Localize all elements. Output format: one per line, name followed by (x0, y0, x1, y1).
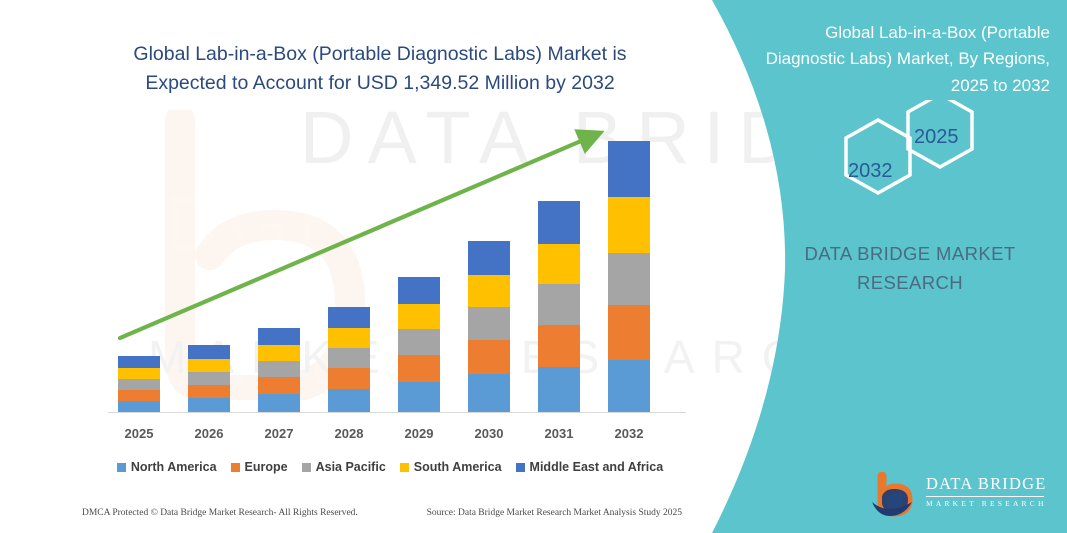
bar-segment (118, 379, 160, 390)
legend-label: Asia Pacific (316, 460, 386, 474)
infographic-canvas: DATA BRIDGE MARKET RESEARCH BRIDGE RESEA… (0, 0, 1067, 533)
bar-segment (118, 356, 160, 368)
legend-swatch (302, 463, 311, 472)
bar-segment (468, 241, 510, 275)
x-axis-label-2030: 2030 (459, 426, 519, 441)
bar-segment (258, 377, 300, 394)
bar-segment (258, 328, 300, 345)
legend-swatch (117, 463, 126, 472)
brand-logo: DATA BRIDGE MARKET RESEARCH (868, 472, 1048, 518)
bar-segment (118, 368, 160, 379)
bar-segment (608, 360, 650, 412)
bar-segment (258, 345, 300, 361)
bar-segment (398, 304, 440, 329)
footer: DMCA Protected © Data Bridge Market Rese… (82, 508, 682, 518)
bar-segment (398, 277, 440, 304)
x-axis-label-2028: 2028 (319, 426, 379, 441)
bar-segment (118, 401, 160, 412)
bar-segment (608, 141, 650, 197)
x-axis-label-2032: 2032 (599, 426, 659, 441)
x-axis-label-2031: 2031 (529, 426, 589, 441)
brand-logo-divider (926, 496, 1044, 497)
brand-logo-title: DATA BRIDGE (926, 474, 1047, 494)
bar-segment (328, 389, 370, 412)
legend-item[interactable]: Asia Pacific (302, 460, 386, 474)
hex-label-back: 2032 (848, 160, 893, 183)
legend-item[interactable]: North America (117, 460, 217, 474)
chart-legend: North AmericaEuropeAsia PacificSouth Ame… (95, 460, 685, 474)
bar-segment (538, 284, 580, 325)
brand-logo-subtitle: MARKET RESEARCH (926, 499, 1047, 508)
x-axis-label-2027: 2027 (249, 426, 309, 441)
hex-label-front: 2025 (914, 126, 959, 149)
panel-title: Global Lab-in-a-Box (Portable Diagnostic… (760, 20, 1050, 99)
bar-segment (258, 361, 300, 377)
bar-segment (468, 374, 510, 412)
bar-2026[interactable] (188, 345, 230, 412)
bar-segment (468, 340, 510, 374)
legend-swatch (400, 463, 409, 472)
bar-segment (538, 325, 580, 367)
legend-label: Europe (245, 460, 288, 474)
bar-segment (398, 355, 440, 382)
legend-swatch (231, 463, 240, 472)
legend-label: South America (414, 460, 502, 474)
bar-2027[interactable] (258, 328, 300, 412)
bar-segment (328, 348, 370, 368)
legend-label: Middle East and Africa (530, 460, 664, 474)
x-axis-line (108, 412, 686, 413)
legend-item[interactable]: Europe (231, 460, 288, 474)
bar-2028[interactable] (328, 307, 370, 412)
hexagon-year-badges: 2025 2032 (818, 100, 998, 215)
bar-segment (188, 398, 230, 412)
page-title: Global Lab-in-a-Box (Portable Diagnostic… (120, 40, 640, 99)
brand-logo-text: DATA BRIDGE MARKET RESEARCH (926, 474, 1047, 508)
bar-segment (608, 197, 650, 253)
x-axis-labels: 20252026202720282029203020312032 (100, 426, 690, 446)
panel-brand-text: DATA BRIDGE MARKET RESEARCH (770, 240, 1050, 297)
bar-2025[interactable] (118, 356, 160, 412)
bar-segment (328, 328, 370, 348)
bar-segment (398, 329, 440, 355)
bar-2031[interactable] (538, 201, 580, 412)
bar-segment (188, 345, 230, 359)
bar-segment (538, 367, 580, 412)
stacked-bar-chart (100, 120, 690, 420)
x-axis-label-2025: 2025 (109, 426, 169, 441)
bar-2029[interactable] (398, 277, 440, 412)
bar-segment (258, 394, 300, 412)
footer-copyright: DMCA Protected © Data Bridge Market Rese… (82, 508, 358, 518)
legend-swatch (516, 463, 525, 472)
bar-segment (118, 390, 160, 401)
bar-segment (188, 385, 230, 398)
x-axis-label-2029: 2029 (389, 426, 449, 441)
bar-segment (468, 307, 510, 340)
bar-segment (328, 368, 370, 389)
bar-segment (328, 307, 370, 328)
footer-source: Source: Data Bridge Market Research Mark… (427, 508, 682, 518)
bar-segment (538, 201, 580, 244)
chart-plot-area (100, 120, 690, 412)
legend-item[interactable]: Middle East and Africa (516, 460, 664, 474)
bar-segment (538, 244, 580, 284)
bar-segment (608, 253, 650, 305)
bar-segment (608, 305, 650, 360)
legend-label: North America (131, 460, 217, 474)
bar-2030[interactable] (468, 241, 510, 412)
bar-segment (188, 372, 230, 385)
hexagon-shapes-icon (818, 100, 998, 215)
bar-segment (468, 275, 510, 307)
data-bridge-mark-icon (868, 472, 922, 518)
bar-segment (188, 359, 230, 372)
x-axis-label-2026: 2026 (179, 426, 239, 441)
legend-item[interactable]: South America (400, 460, 502, 474)
bar-segment (398, 382, 440, 412)
bar-2032[interactable] (608, 141, 650, 412)
